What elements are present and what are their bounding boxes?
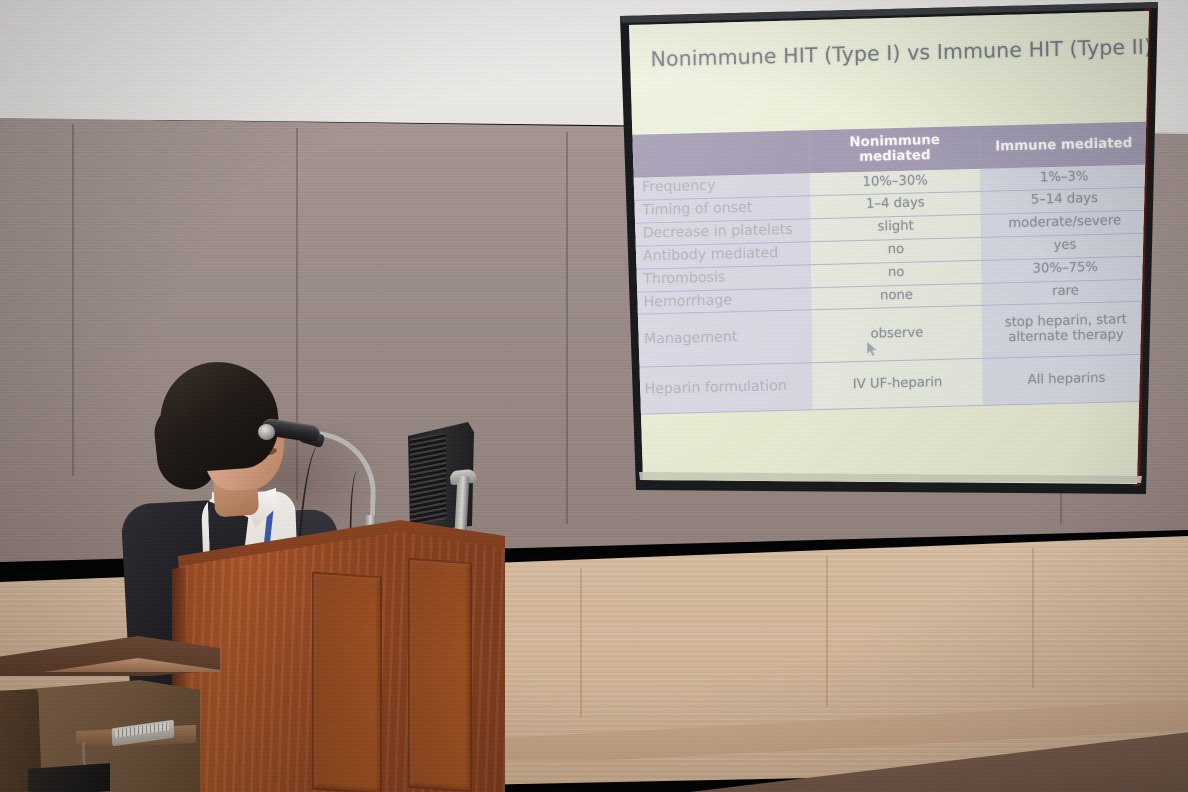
hair — [156, 358, 281, 474]
wall-seam — [566, 132, 568, 524]
row-label: Heparin formulation — [634, 363, 813, 414]
wall-lower-seam — [1032, 548, 1034, 688]
lectern-panel-inset — [408, 558, 472, 792]
cell-nonimmune: IV UF-heparin — [812, 358, 983, 409]
cell-immune: All heparins — [982, 354, 1151, 405]
wall-seam — [72, 124, 74, 476]
lectern-panel-inset — [312, 572, 382, 792]
comparison-table: Nonimmune mediated Immune mediated Frequ… — [632, 122, 1151, 415]
wall-lower-seam — [826, 556, 828, 706]
table-header-nonimmune: Nonimmune mediated — [810, 126, 981, 173]
slide-title: Nonimmune HIT (Type I) vs Immune HIT (Ty… — [650, 35, 1150, 72]
table-header-immune: Immune mediated — [980, 122, 1149, 169]
presentation-photo-scene: Nonimmune HIT (Type I) vs Immune HIT (Ty… — [0, 0, 1188, 792]
mouse-pointer-icon — [867, 342, 878, 357]
cell-nonimmune: observe — [812, 306, 983, 363]
cell-immune: stop heparin, start alternate therapy — [982, 302, 1151, 359]
row-label: Management — [634, 310, 813, 367]
table-body: Frequency 10%–30% 1%–3% Timing of onset … — [632, 165, 1151, 415]
computer-tower[interactable] — [28, 763, 110, 792]
wall-lower-seam — [580, 568, 582, 718]
screen-surface: Nonimmune HIT (Type I) vs Immune HIT (Ty… — [606, 2, 1166, 502]
table-header-blank — [632, 130, 811, 178]
projected-slide: Nonimmune HIT (Type I) vs Immune HIT (Ty… — [622, 2, 1164, 490]
projection-screen[interactable]: Nonimmune HIT (Type I) vs Immune HIT (Ty… — [606, 2, 1166, 502]
